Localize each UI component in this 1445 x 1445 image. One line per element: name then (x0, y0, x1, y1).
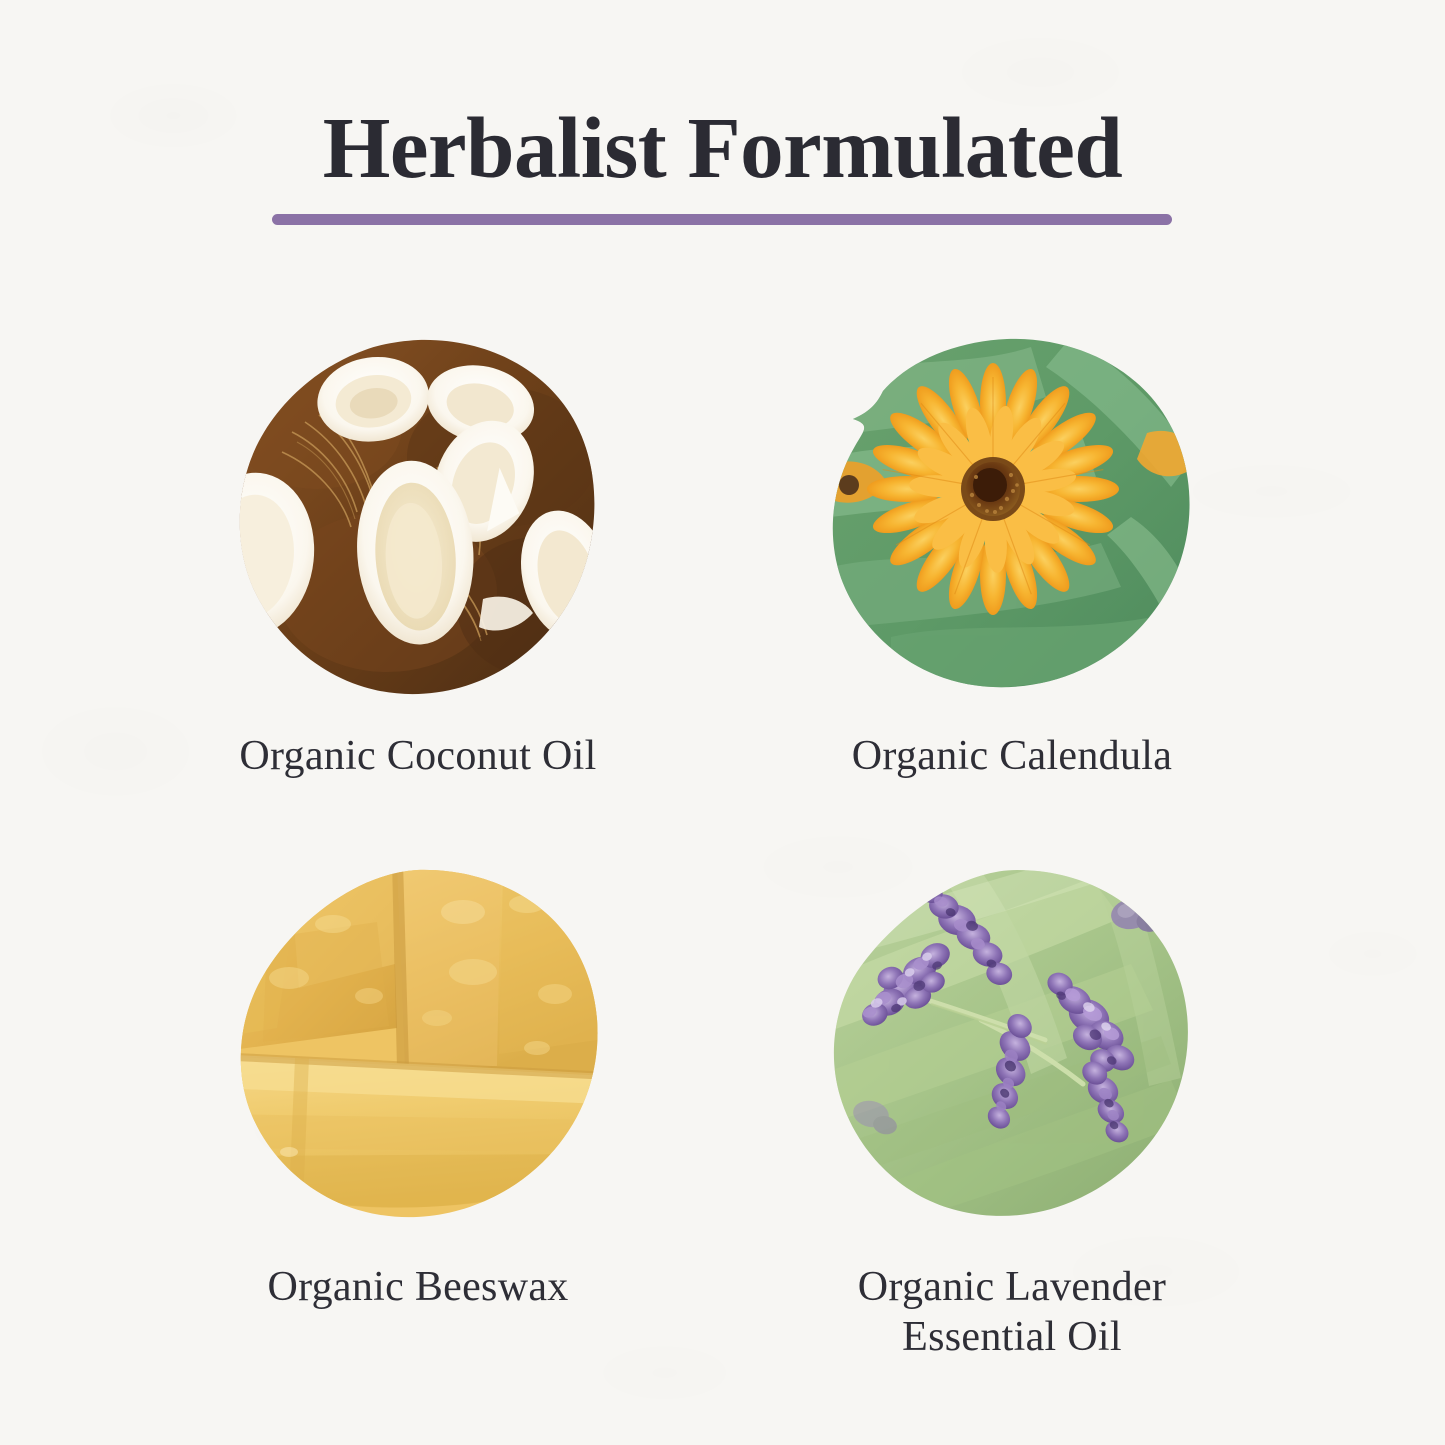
label-line-1: Organic Calendula (772, 732, 1252, 782)
coconut-image-circle (237, 337, 600, 700)
calendula-image-circle (831, 337, 1194, 700)
page-title: Herbalist Formulated (0, 104, 1445, 191)
label-line-1: Organic Coconut Oil (178, 732, 658, 782)
title-divider-rule (272, 214, 1172, 225)
header: Herbalist Formulated (0, 104, 1445, 191)
ingredient-label-coconut-oil: Organic Coconut Oil (178, 732, 658, 782)
ingredient-grid-row-2: Organic Beeswax (0, 868, 1445, 1399)
beeswax-image-circle (237, 868, 600, 1231)
ingredient-card-beeswax: Organic Beeswax (178, 868, 658, 1313)
ingredient-card-lavender-essential-oil: Organic Lavender Essential Oil (772, 868, 1252, 1362)
ingredient-row: Organic Coconut Oil (0, 337, 1445, 868)
label-line-2: Essential Oil (772, 1313, 1252, 1363)
ingredient-grid: Organic Coconut Oil (0, 337, 1445, 868)
ingredient-label-lavender-essential-oil: Organic Lavender Essential Oil (772, 1263, 1252, 1362)
ingredient-label-beeswax: Organic Beeswax (178, 1263, 658, 1313)
ingredient-card-coconut-oil: Organic Coconut Oil (178, 337, 658, 782)
ingredient-card-calendula: Organic Calendula (772, 337, 1252, 782)
lavender-image-circle (831, 868, 1194, 1231)
infographic-page: Herbalist Formulated (0, 0, 1445, 1445)
label-line-1: Organic Lavender (772, 1263, 1252, 1313)
ingredient-row: Organic Beeswax (0, 868, 1445, 1399)
ingredient-label-calendula: Organic Calendula (772, 732, 1252, 782)
label-line-1: Organic Beeswax (178, 1263, 658, 1313)
